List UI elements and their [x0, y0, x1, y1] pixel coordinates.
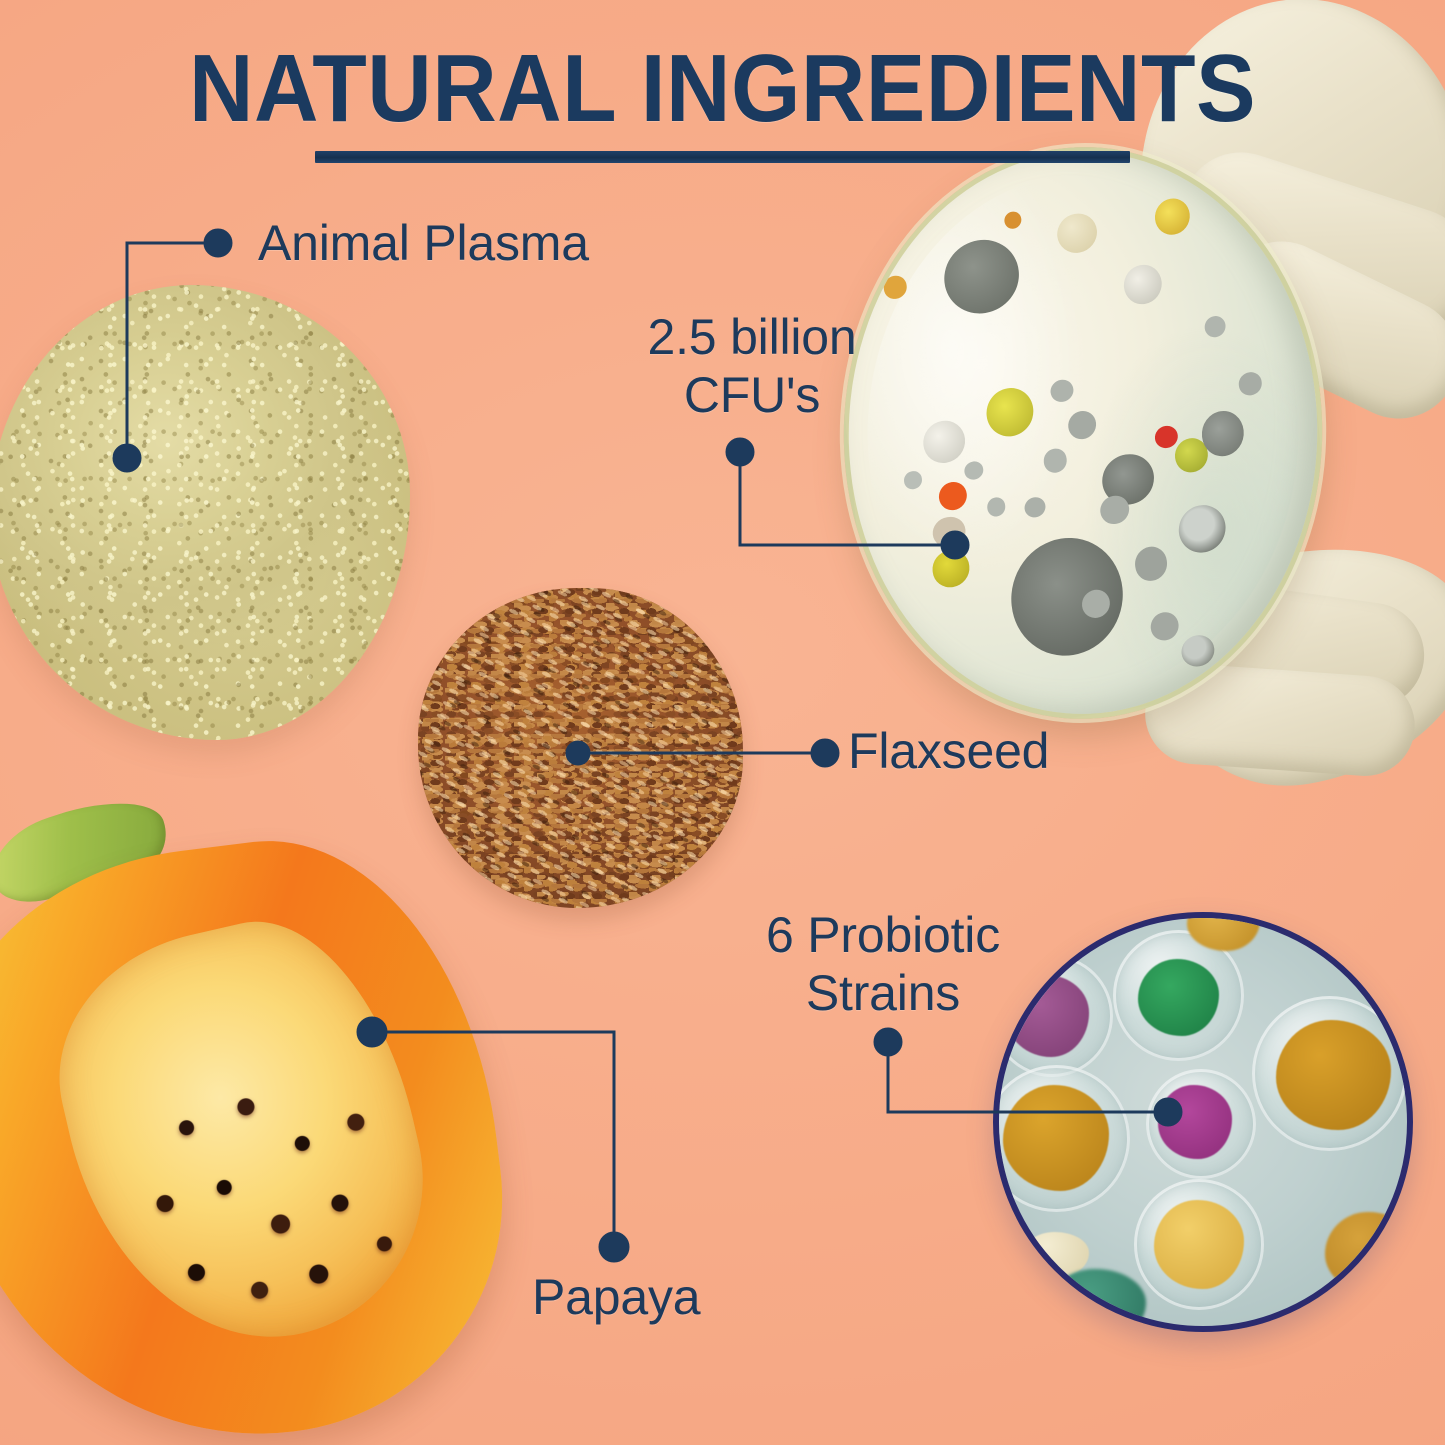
- colony-magenta-center: [1158, 1085, 1231, 1158]
- callout-label-cfu: 2.5 billion CFU's: [632, 308, 872, 424]
- papaya-half-photo: [0, 800, 520, 1445]
- title-underline-rule: [315, 151, 1130, 163]
- infographic-canvas: NATURAL INGREDIENTS: [0, 0, 1445, 1445]
- colony-purple: [1007, 975, 1089, 1057]
- page-title: NATURAL INGREDIENTS: [51, 46, 1395, 132]
- callout-label-flaxseed: Flaxseed: [848, 722, 1049, 780]
- leader-dot-label: [727, 439, 753, 465]
- colony-green: [1138, 959, 1220, 1037]
- powder-grain-texture: [0, 285, 410, 740]
- colony-amber-large: [1276, 1020, 1390, 1130]
- petri-dish-photo: [835, 120, 1445, 760]
- animal-plasma-powder-photo: [0, 285, 410, 740]
- callout-label-papaya: Papaya: [532, 1268, 700, 1326]
- colony-amber-right-edge: [1325, 1212, 1413, 1294]
- probiotic-well-plate-photo: [993, 912, 1413, 1332]
- leader-dot-label: [600, 1233, 628, 1261]
- papaya-flesh: [0, 817, 529, 1445]
- colony-yellow-bottom: [1154, 1200, 1244, 1290]
- title-block: NATURAL INGREDIENTS: [0, 46, 1445, 132]
- powder-mound: [0, 285, 410, 740]
- leader-dot-label: [875, 1029, 901, 1055]
- leader-dot-label: [205, 230, 231, 256]
- callout-label-probiotic-strains: 6 Probiotic Strains: [748, 906, 1018, 1022]
- callout-label-animal-plasma: Animal Plasma: [258, 214, 589, 272]
- colony-teal-bottom: [1048, 1269, 1146, 1332]
- colony-amber-left: [1003, 1085, 1109, 1191]
- well-plate-circle: [993, 912, 1413, 1332]
